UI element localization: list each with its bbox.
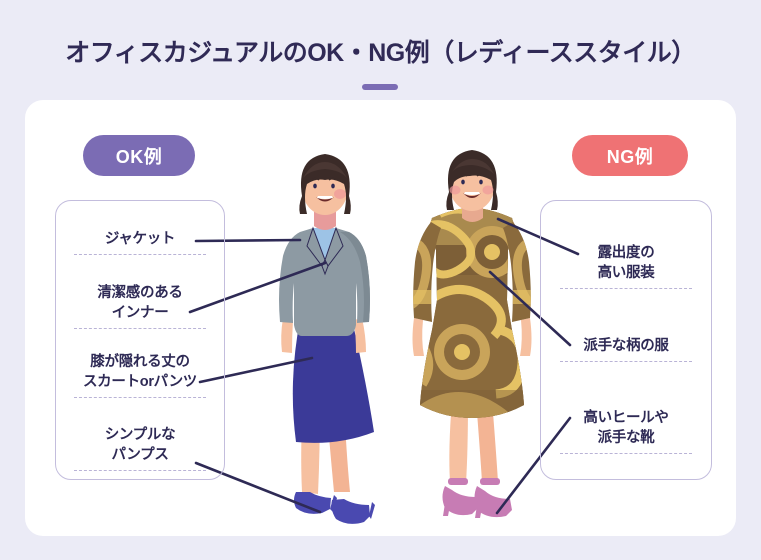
ok-item-inner: 清潔感のある インナー <box>62 283 218 329</box>
ng-item-exposure: 露出度の 高い服装 <box>547 243 705 289</box>
ok-item-skirt-line1: 膝が隠れる丈の <box>60 352 220 372</box>
ng-item-heels: 高いヒールや 派手な靴 <box>547 408 705 454</box>
ng-item-heels-line1: 高いヒールや <box>547 408 705 428</box>
badge-ok: OK例 <box>83 135 195 176</box>
infographic-root: オフィスカジュアルのOK・NG例（レディーススタイル） <box>0 0 761 560</box>
badge-ok-label: OK例 <box>116 143 163 169</box>
ok-item-skirt-underline <box>74 397 206 398</box>
ng-item-exposure-line2: 高い服装 <box>547 263 705 283</box>
badge-ng-label: NG例 <box>607 143 654 169</box>
ok-item-skirt-line2: スカートorパンツ <box>60 372 220 392</box>
ng-item-exposure-underline <box>560 288 692 289</box>
ok-item-jacket: ジャケット <box>62 229 218 255</box>
ng-item-heels-line2: 派手な靴 <box>547 428 705 448</box>
ok-item-jacket-underline <box>74 254 206 255</box>
ng-item-pattern-underline <box>560 361 692 362</box>
ng-item-exposure-line1: 露出度の <box>547 243 705 263</box>
page-title: オフィスカジュアルのOK・NG例（レディーススタイル） <box>0 33 761 69</box>
ok-item-inner-line2: インナー <box>62 303 218 323</box>
ok-item-inner-line1: 清潔感のある <box>62 283 218 303</box>
ng-item-heels-underline <box>560 453 692 454</box>
ng-item-pattern-line1: 派手な柄の服 <box>547 336 705 356</box>
ok-item-skirt: 膝が隠れる丈の スカートorパンツ <box>60 352 220 398</box>
ok-item-pumps: シンプルな パンプス <box>62 425 218 471</box>
ng-item-pattern: 派手な柄の服 <box>547 336 705 362</box>
ok-item-jacket-line1: ジャケット <box>62 229 218 249</box>
badge-ng: NG例 <box>572 135 688 176</box>
ok-item-inner-underline <box>74 328 206 329</box>
ok-item-pumps-line1: シンプルな <box>62 425 218 445</box>
title-accent-bar <box>362 84 398 90</box>
ok-item-pumps-underline <box>74 470 206 471</box>
ok-item-pumps-line2: パンプス <box>62 445 218 465</box>
